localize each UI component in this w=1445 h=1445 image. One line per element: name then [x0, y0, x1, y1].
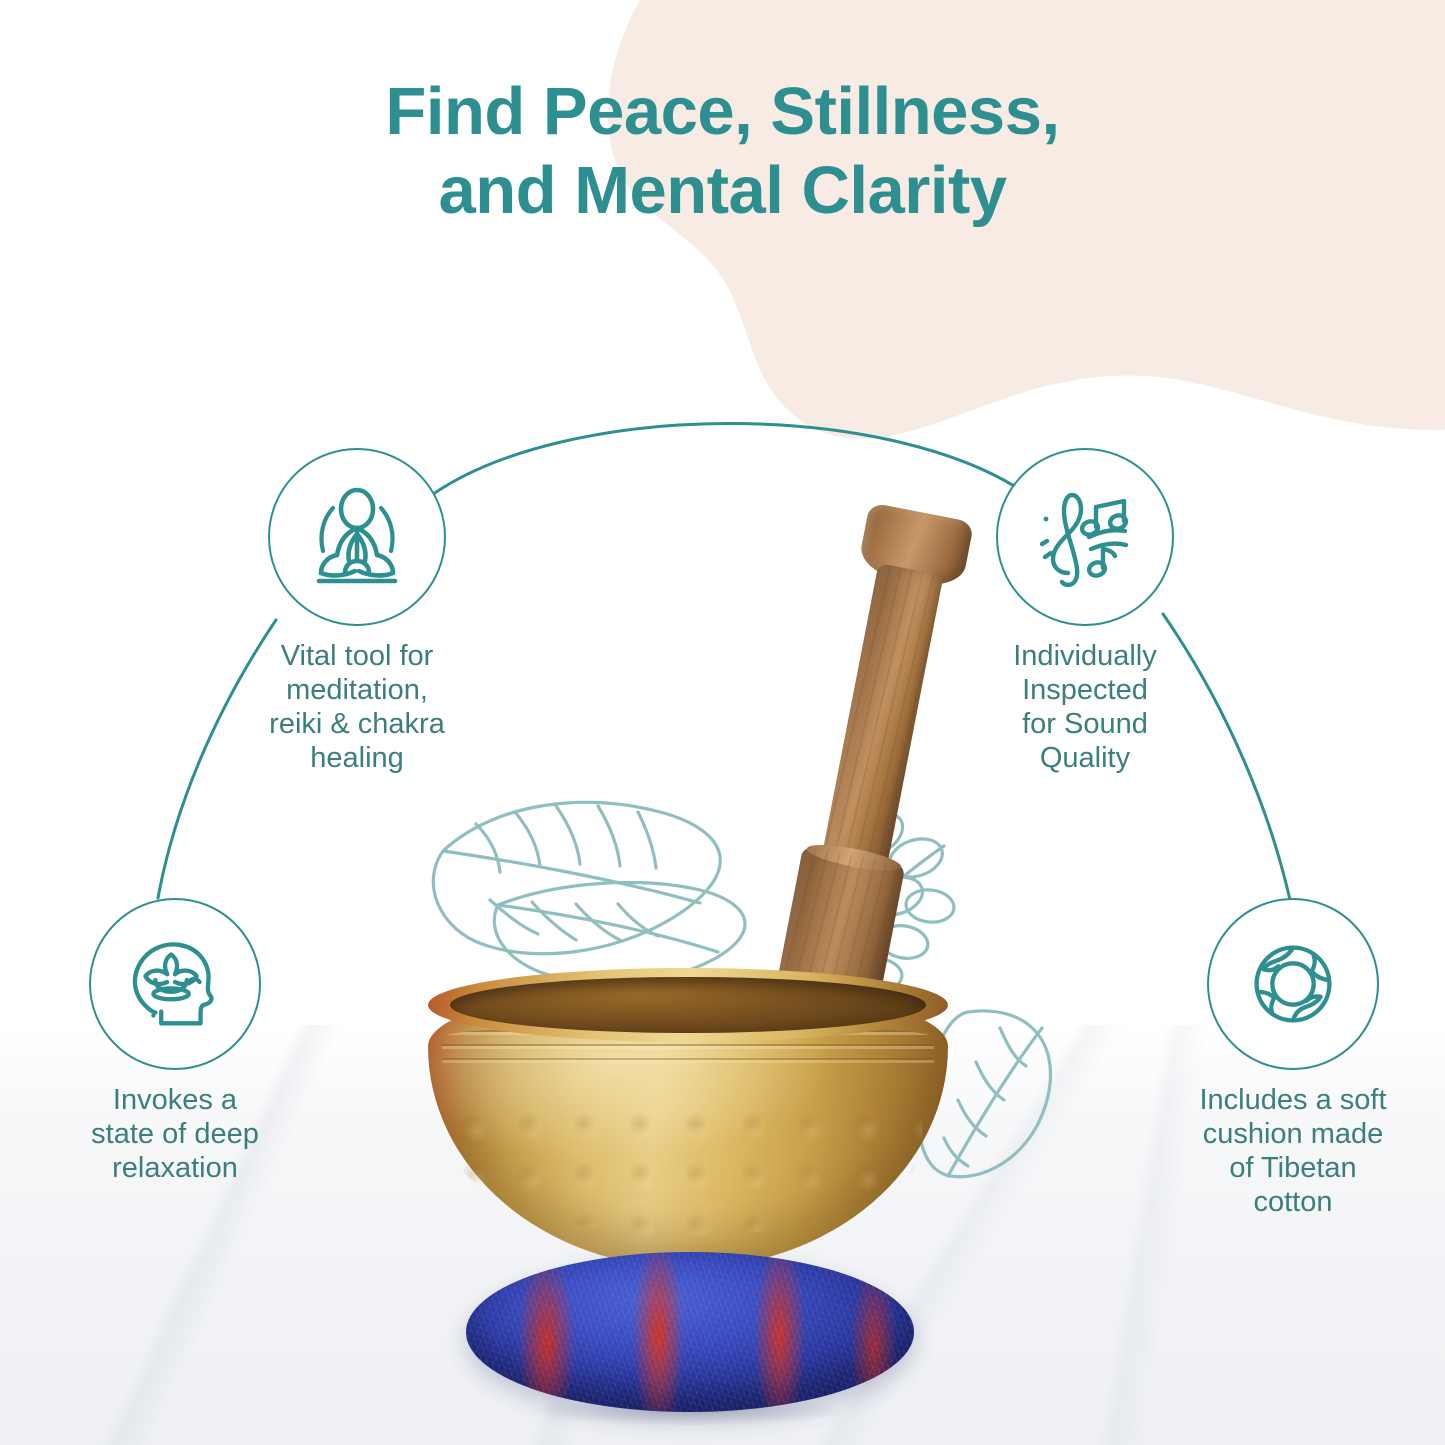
feature-icon-circle [89, 898, 261, 1070]
feature-meditation[interactable]: Vital tool for meditation, reiki & chakr… [212, 448, 502, 776]
feature-label: Invokes a state of deep relaxation [30, 1084, 320, 1186]
banana-leaf-left [433, 802, 745, 983]
head-with-lotus-icon [116, 925, 234, 1043]
meditating-person-icon [297, 477, 417, 597]
feature-icon-circle [996, 448, 1174, 626]
leaf-lower-right [919, 1011, 1050, 1177]
infographic-canvas: Find Peace, Stillness, and Mental Clarit… [0, 0, 1445, 1445]
music-notes-icon [1025, 477, 1145, 597]
feature-label: Vital tool for meditation, reiki & chakr… [212, 640, 502, 776]
cushion-ring-icon [1234, 925, 1352, 1043]
feature-label: Individually Inspected for Sound Quality [940, 640, 1230, 776]
feature-sound-quality[interactable]: Individually Inspected for Sound Quality [940, 448, 1230, 776]
feature-icon-circle [268, 448, 446, 626]
page-title: Find Peace, Stillness, and Mental Clarit… [0, 72, 1445, 230]
feature-label: Includes a soft cushion made of Tibetan … [1148, 1084, 1438, 1220]
feature-cushion[interactable]: Includes a soft cushion made of Tibetan … [1148, 898, 1438, 1220]
eucalyptus-sprig-right [801, 806, 955, 992]
feature-relaxation[interactable]: Invokes a state of deep relaxation [30, 898, 320, 1186]
feature-icon-circle [1207, 898, 1379, 1070]
